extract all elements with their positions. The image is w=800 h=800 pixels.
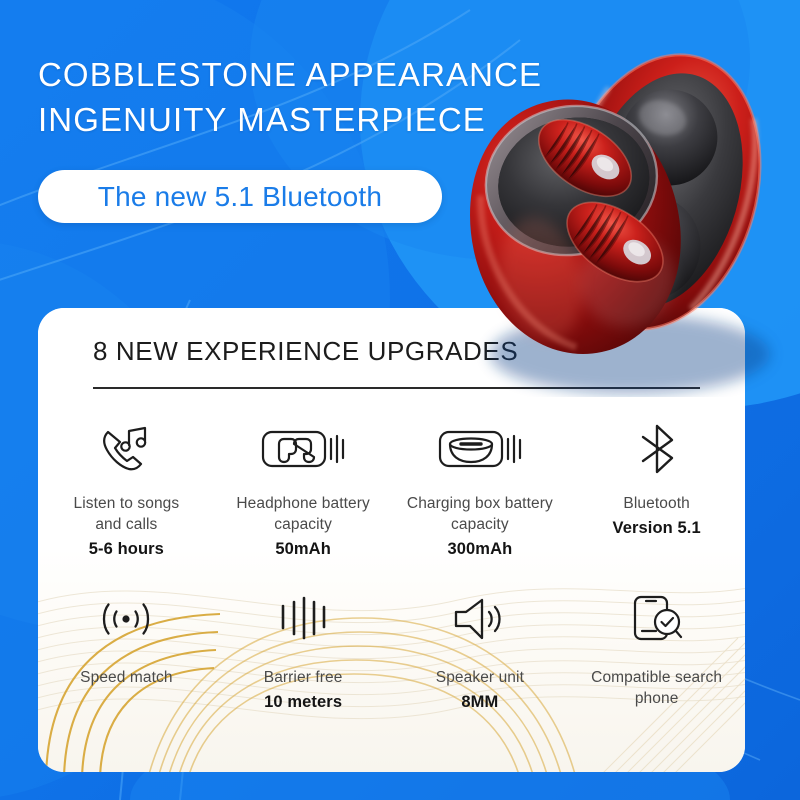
feature-label-line-2: phone — [635, 690, 679, 707]
feature-value: 8MM — [461, 693, 498, 712]
earbuds-case-battery-icon — [260, 421, 346, 477]
feature-label-line-2: and calls — [95, 516, 157, 533]
feature-label: Speaker unit — [436, 667, 524, 688]
feature-label: Charging box battery capacity — [407, 493, 553, 535]
feature-label-line-1: Charging box battery — [407, 495, 553, 512]
feature-item-barrier-free: Barrier free 10 meters — [215, 583, 392, 743]
feature-label-line-1: Bluetooth — [623, 495, 689, 512]
feature-label-line-1: Speaker unit — [436, 669, 524, 686]
barrier-free-bars-icon — [275, 591, 331, 647]
feature-label: Speed match — [80, 667, 172, 688]
feature-label-line-1: Headphone battery — [236, 495, 370, 512]
feature-value: 300mAh — [447, 540, 512, 559]
feature-label-line-1: Listen to songs — [73, 495, 179, 512]
product-image-earbuds-case — [455, 42, 800, 397]
bluetooth-icon — [635, 421, 679, 477]
feature-label-line-1: Barrier free — [264, 669, 343, 686]
feature-label-line-1: Speed match — [80, 669, 172, 686]
feature-item-listen: Listen to songs and calls 5-6 hours — [38, 413, 215, 583]
feature-value: 5-6 hours — [89, 540, 164, 559]
feature-value: Version 5.1 — [613, 519, 701, 538]
feature-label-line-2: capacity — [451, 516, 509, 533]
feature-label-line-1: Compatible search — [591, 669, 722, 686]
speaker-icon — [450, 591, 510, 647]
feature-value: 50mAh — [275, 540, 331, 559]
phone-search-icon — [630, 591, 684, 647]
feature-item-headphone-battery: Headphone battery capacity 50mAh — [215, 413, 392, 583]
feature-item-compatible-search: Compatible search phone — [568, 583, 745, 743]
bluetooth-version-badge-label: The new 5.1 Bluetooth — [98, 181, 382, 213]
phone-music-icon — [98, 421, 154, 477]
feature-label: Barrier free — [264, 667, 343, 688]
features-grid: Listen to songs and calls 5-6 hours Head… — [38, 413, 745, 743]
feature-label: Headphone battery capacity — [236, 493, 370, 535]
feature-item-charging-box-battery: Charging box battery capacity 300mAh — [392, 413, 569, 583]
feature-item-bluetooth: Bluetooth Version 5.1 — [568, 413, 745, 583]
feature-value: 10 meters — [264, 693, 342, 712]
charging-box-battery-icon — [437, 421, 523, 477]
feature-label: Compatible search phone — [591, 667, 722, 709]
feature-label: Bluetooth — [623, 493, 689, 514]
feature-label: Listen to songs and calls — [73, 493, 179, 535]
bluetooth-version-badge: The new 5.1 Bluetooth — [38, 170, 442, 223]
signal-waves-icon — [98, 591, 154, 647]
feature-item-speaker: Speaker unit 8MM — [392, 583, 569, 743]
feature-label-line-2: capacity — [274, 516, 332, 533]
feature-item-speed-match: Speed match — [38, 583, 215, 743]
